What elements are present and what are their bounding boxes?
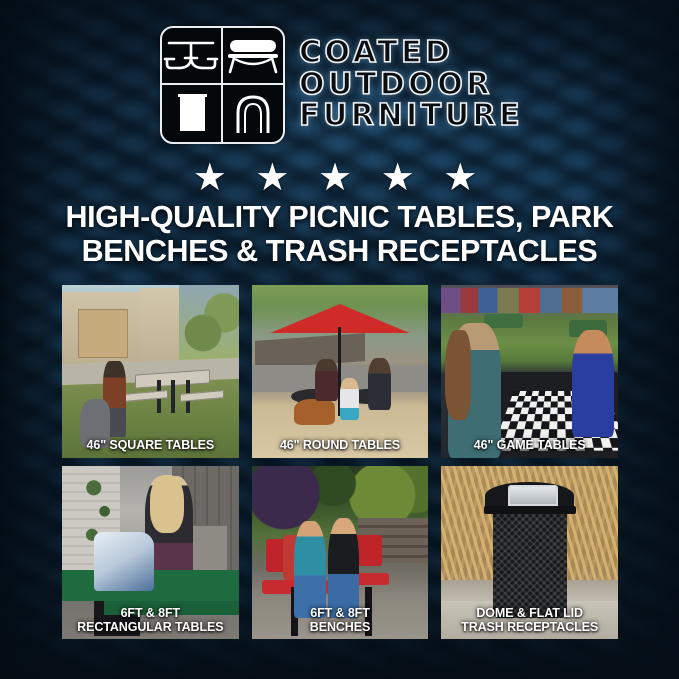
product-tile-trash-receptacles[interactable]: DOME & FLAT LID TRASH RECEPTACLES — [441, 466, 618, 639]
product-grid: 46" SQUARE TABLES 46" ROUND TABLES — [62, 285, 618, 639]
product-caption: 46" SQUARE TABLES — [62, 438, 239, 452]
logo-line-1: COATED — [299, 38, 523, 69]
product-tile-rectangular-tables[interactable]: 6FT & 8FT RECTANGULAR TABLES — [62, 466, 239, 639]
product-photo-round-tables — [252, 285, 429, 458]
product-tile-square-tables[interactable]: 46" SQUARE TABLES — [62, 285, 239, 458]
product-caption: DOME & FLAT LID TRASH RECEPTACLES — [441, 606, 618, 634]
brand-logo[interactable]: COATED OUTDOOR FURNITURE — [160, 26, 523, 144]
product-tile-benches[interactable]: 6FT & 8FT BENCHES — [252, 466, 429, 639]
park-bench-icon — [223, 28, 284, 85]
product-caption-line-2: RECTANGULAR TABLES — [62, 620, 239, 634]
headline-line-1: HIGH-QUALITY PICNIC TABLES, PARK — [30, 201, 649, 235]
product-photo-game-tables — [441, 285, 618, 458]
product-caption-line-1: 6FT & 8FT — [252, 606, 429, 620]
logo-line-3: FURNITURE — [299, 101, 523, 132]
headline-line-2: BENCHES & TRASH RECEPTACLES — [30, 235, 649, 269]
page-title: HIGH-QUALITY PICNIC TABLES, PARK BENCHES… — [30, 201, 649, 268]
product-caption-line-1: DOME & FLAT LID — [441, 606, 618, 620]
trash-receptacle-icon — [162, 85, 223, 142]
product-tile-game-tables[interactable]: 46" GAME TABLES — [441, 285, 618, 458]
promo-banner: COATED OUTDOOR FURNITURE ★ ★ ★ ★ ★ HIGH-… — [0, 0, 679, 679]
picnic-table-icon — [162, 28, 223, 85]
product-caption: 46" GAME TABLES — [441, 438, 618, 452]
logo-line-2: OUTDOOR — [299, 70, 523, 101]
product-caption-line-2: TRASH RECEPTACLES — [441, 620, 618, 634]
product-caption: 46" ROUND TABLES — [252, 438, 429, 452]
bike-rack-icon — [223, 85, 284, 142]
product-caption-line-2: BENCHES — [252, 620, 429, 634]
logo-icon-grid — [160, 26, 285, 144]
product-caption: 6FT & 8FT BENCHES — [252, 606, 429, 634]
product-tile-round-tables[interactable]: 46" ROUND TABLES — [252, 285, 429, 458]
product-caption: 6FT & 8FT RECTANGULAR TABLES — [62, 606, 239, 634]
product-caption-line-1: 6FT & 8FT — [62, 606, 239, 620]
star-rating: ★ ★ ★ ★ ★ — [0, 159, 679, 197]
logo-wordmark: COATED OUTDOOR FURNITURE — [299, 38, 523, 132]
product-photo-square-tables — [62, 285, 239, 458]
